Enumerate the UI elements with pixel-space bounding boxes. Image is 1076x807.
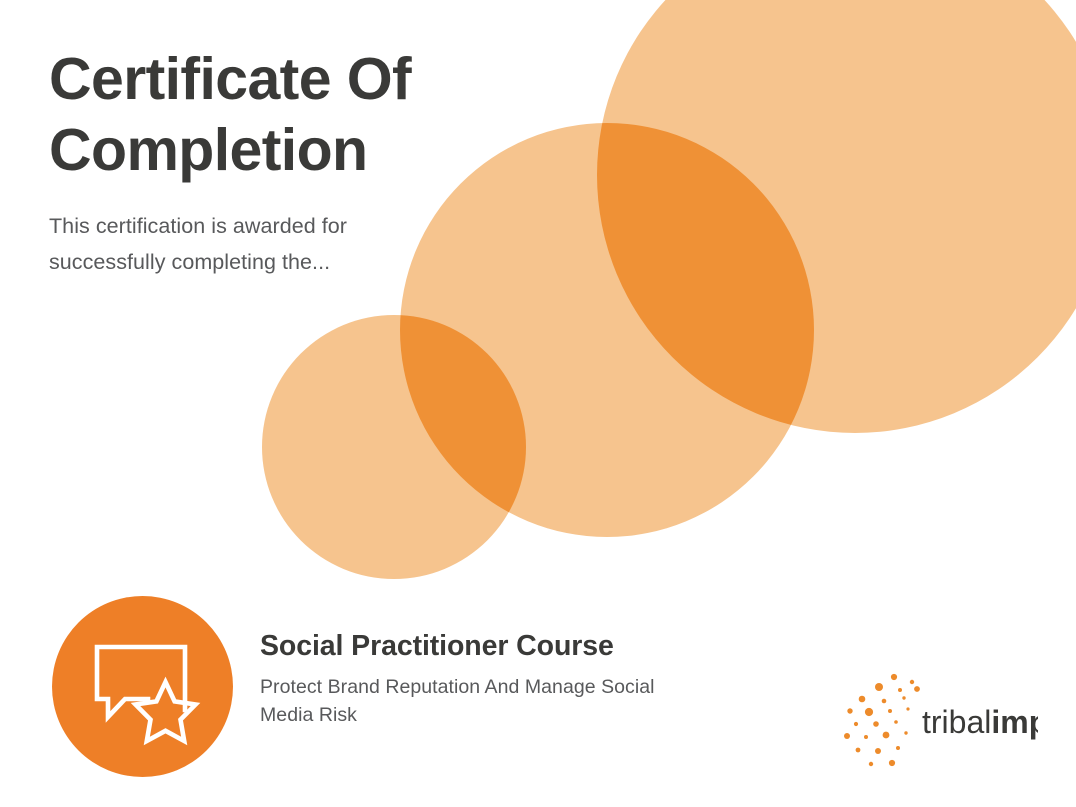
course-text-block: Social Practitioner Course Protect Brand… bbox=[260, 630, 780, 730]
heading-block: Certificate Of Completion This certifica… bbox=[49, 44, 519, 280]
course-description: Protect Brand Reputation And Manage Soci… bbox=[260, 673, 780, 731]
small-circle bbox=[262, 315, 526, 579]
page-subtitle: This certification is awarded for succes… bbox=[49, 208, 519, 280]
certificate-page: Certificate Of Completion This certifica… bbox=[0, 0, 1076, 807]
tribal-impact-dot-cluster bbox=[844, 674, 920, 766]
course-badge bbox=[52, 596, 233, 777]
large-circle bbox=[597, 0, 1076, 433]
tribal-impact-logo: tribal impact ® bbox=[838, 671, 1038, 776]
logo-word-light: tribal bbox=[922, 704, 991, 740]
course-name: Social Practitioner Course bbox=[260, 630, 780, 664]
brand-logo: tribal impact ® bbox=[838, 671, 1038, 776]
page-title: Certificate Of Completion bbox=[49, 44, 519, 187]
course-row: Social Practitioner Course Protect Brand… bbox=[52, 596, 1032, 781]
logo-word-bold: impact bbox=[991, 704, 1038, 740]
overlap-medium-small bbox=[262, 315, 526, 579]
speech-bubble-star-icon bbox=[52, 596, 233, 777]
